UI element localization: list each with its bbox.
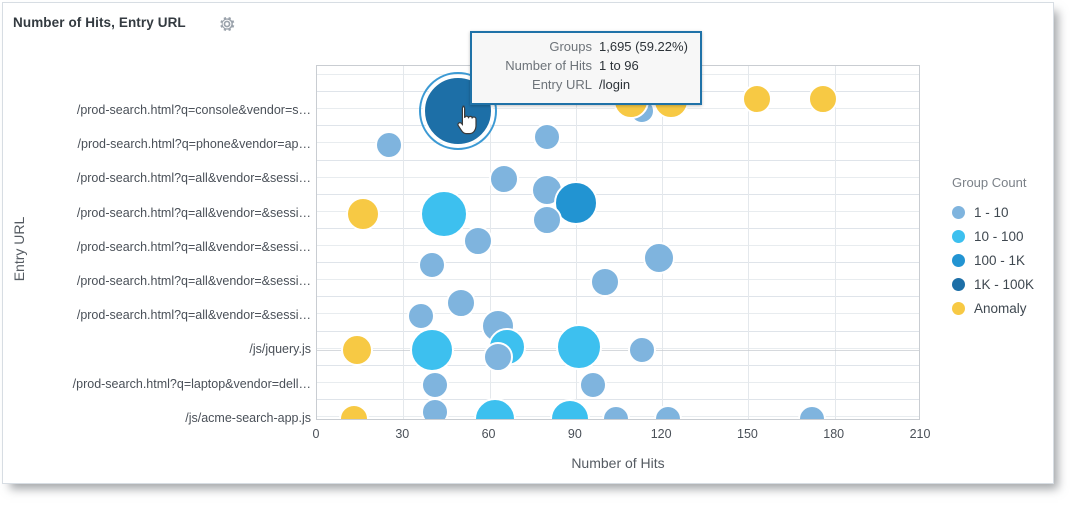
gridline-horizontal [317, 365, 919, 366]
legend: Group Count 1 - 1010 - 100100 - 1K1K - 1… [952, 175, 1052, 320]
legend-swatch-icon [952, 278, 965, 291]
gridline-horizontal [317, 399, 919, 400]
y-axis-tick-label: /prod-search.html?q=all&vendor=&sessi… [77, 274, 311, 288]
y-axis-tick-label: /js/acme-search-app.js [185, 411, 311, 425]
legend-item[interactable]: 10 - 100 [952, 224, 1052, 248]
x-axis-tick-label: 210 [910, 427, 931, 441]
legend-items: 1 - 1010 - 100100 - 1K1K - 100KAnomaly [952, 200, 1052, 320]
y-axis-tick-label: /prod-search.html?q=laptop&vendor=dell… [73, 377, 311, 391]
bubble-point[interactable] [341, 334, 373, 366]
x-axis-tick-label: 150 [737, 427, 758, 441]
bubble-point[interactable] [339, 404, 369, 420]
bubble-point[interactable] [407, 302, 435, 330]
bubble-point[interactable] [742, 84, 772, 114]
x-axis-title: Number of Hits [316, 455, 920, 471]
legend-item-label: Anomaly [974, 301, 1027, 316]
gridline-vertical [403, 66, 404, 419]
tooltip-key: Groups [480, 39, 599, 54]
bubble-point[interactable] [579, 371, 607, 399]
legend-title: Group Count [952, 175, 1052, 190]
gridline-horizontal [317, 160, 919, 161]
gridline-vertical [835, 66, 836, 419]
bubble-point[interactable] [643, 242, 675, 274]
bubble-point[interactable] [556, 324, 602, 370]
bubble-point[interactable] [550, 399, 590, 420]
y-axis-title: Entry URL [11, 189, 27, 309]
y-axis-tick-label: /prod-search.html?q=console&vendor=s… [77, 103, 311, 117]
legend-item-label: 1 - 10 [974, 205, 1009, 220]
gridline-horizontal [317, 194, 919, 195]
bubble-point[interactable] [418, 251, 446, 279]
category-baseline [317, 350, 919, 351]
bubble-point[interactable] [654, 405, 682, 420]
y-axis-tick-label: /prod-search.html?q=all&vendor=&sessi… [77, 240, 311, 254]
y-axis-tick-label: /prod-search.html?q=all&vendor=&sessi… [77, 206, 311, 220]
bubble-point[interactable] [590, 267, 620, 297]
gridline-horizontal [317, 142, 919, 143]
bubble-point[interactable] [532, 205, 562, 235]
y-axis-tick-labels: /prod-search.html?q=console&vendor=s…/pr… [27, 3, 311, 483]
tooltip-row: Entry URL/login [480, 77, 690, 96]
gridline-horizontal [317, 382, 919, 383]
tooltip-value: 1,695 (59.22%) [599, 39, 688, 54]
gridline-horizontal [317, 262, 919, 263]
tooltip-value: /login [599, 77, 630, 92]
x-axis-tick-label: 120 [651, 427, 672, 441]
bubble-point[interactable] [446, 288, 476, 318]
tooltip-row: Number of Hits1 to 96 [480, 58, 690, 77]
gridline-vertical [748, 66, 749, 419]
legend-item-label: 1K - 100K [974, 277, 1034, 292]
bubble-point[interactable] [628, 336, 656, 364]
bubble-point[interactable] [375, 131, 403, 159]
y-axis-tick-label: /prod-search.html?q=all&vendor=&sessi… [77, 308, 311, 322]
gridline-horizontal [317, 125, 919, 126]
bubble-point[interactable] [533, 123, 561, 151]
x-axis-tick-label: 30 [395, 427, 409, 441]
tooltip-key: Number of Hits [480, 58, 599, 73]
legend-item[interactable]: 1K - 100K [952, 272, 1052, 296]
bubble-point[interactable] [483, 342, 513, 372]
legend-swatch-icon [952, 254, 965, 267]
bubble-point[interactable] [346, 197, 380, 231]
gridline-horizontal [317, 228, 919, 229]
legend-swatch-icon [952, 206, 965, 219]
legend-item-label: 10 - 100 [974, 229, 1024, 244]
chart-panel: Number of Hits, Entry URL Entry URL /pro… [2, 2, 1054, 484]
bubble-point[interactable] [421, 371, 449, 399]
y-axis-tick-label: /js/jquery.js [249, 342, 311, 356]
legend-item[interactable]: Anomaly [952, 296, 1052, 320]
tooltip-key: Entry URL [480, 77, 599, 92]
scatter-plot-area[interactable] [316, 65, 920, 420]
y-axis-tick-label: /prod-search.html?q=phone&vendor=ap… [78, 137, 311, 151]
screenshot-root: Number of Hits, Entry URL Entry URL /pro… [0, 0, 1070, 507]
gridline-horizontal [317, 296, 919, 297]
x-axis-tick-label: 180 [823, 427, 844, 441]
gridline-horizontal [317, 211, 919, 212]
bubble-point[interactable] [463, 226, 493, 256]
bubble-point[interactable] [421, 398, 449, 420]
legend-item[interactable]: 100 - 1K [952, 248, 1052, 272]
bubble-point[interactable] [489, 164, 519, 194]
bubble-point[interactable] [474, 398, 516, 420]
x-axis-tick-label: 0 [313, 427, 320, 441]
x-axis-tick-label: 60 [482, 427, 496, 441]
bubble-point[interactable] [410, 328, 454, 372]
legend-item[interactable]: 1 - 10 [952, 200, 1052, 224]
bubble-point[interactable] [808, 84, 838, 114]
tooltip: Groups1,695 (59.22%)Number of Hits1 to 9… [470, 31, 702, 105]
mouse-cursor-icon [455, 104, 481, 143]
y-axis-tick-label: /prod-search.html?q=all&vendor=&sessi… [77, 171, 311, 185]
legend-swatch-icon [952, 302, 965, 315]
gridline-horizontal [317, 348, 919, 349]
gridline-horizontal [317, 245, 919, 246]
bubble-point[interactable] [420, 190, 468, 238]
x-axis-tick-label: 90 [568, 427, 582, 441]
tooltip-value: 1 to 96 [599, 58, 639, 73]
legend-swatch-icon [952, 230, 965, 243]
bubble-point[interactable] [602, 405, 630, 420]
gridline-horizontal [317, 331, 919, 332]
bubble-point[interactable] [798, 405, 826, 420]
legend-item-label: 100 - 1K [974, 253, 1025, 268]
tooltip-row: Groups1,695 (59.22%) [480, 39, 690, 58]
gridline-horizontal [317, 177, 919, 178]
